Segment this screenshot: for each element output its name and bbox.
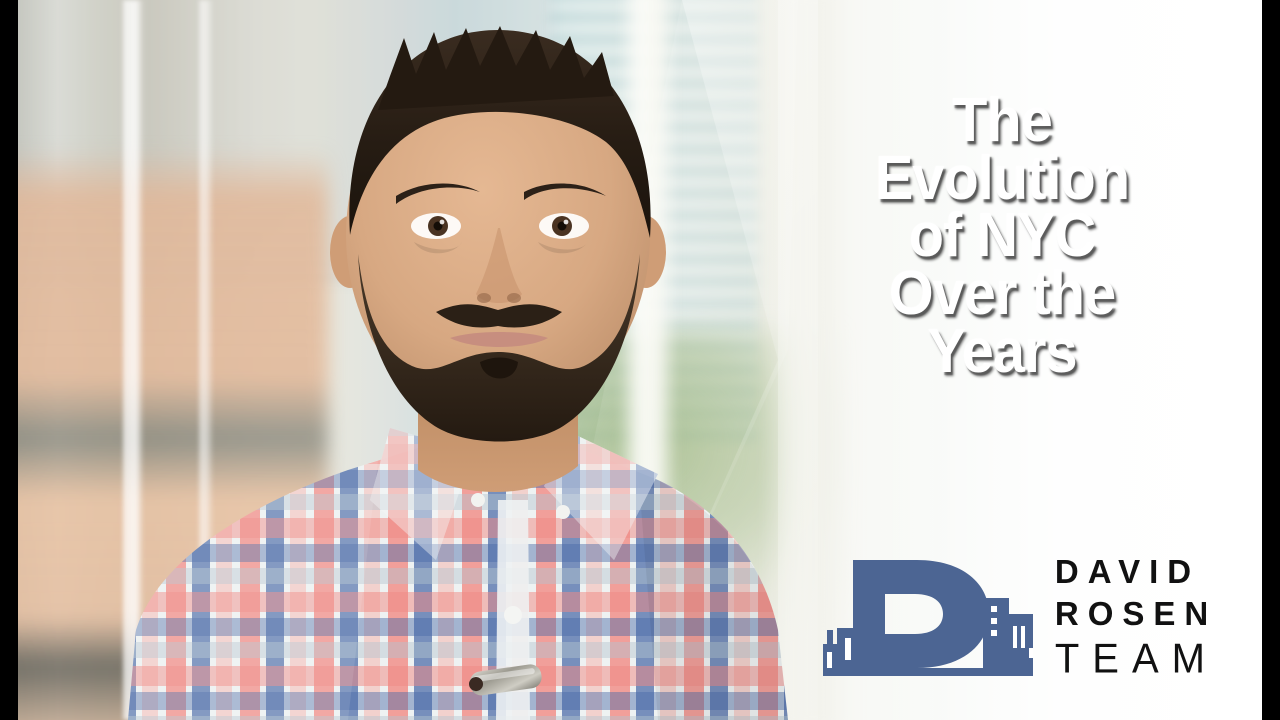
david-rosen-d-building-icon [823,552,1033,682]
title-line-1: The [816,92,1188,150]
title-line-3: of NYC [816,207,1188,265]
brand-logo-lockup: DAVID ROSEN TEAM [823,552,1218,682]
letterbox-bar-left [0,0,18,720]
brand-word-rosen: ROSEN [1055,597,1217,630]
thumbnail-stage: The Evolution of NYC Over the Years [0,0,1280,720]
video-frame: The Evolution of NYC Over the Years [18,0,1262,720]
brand-word-team: TEAM [1055,638,1218,680]
letterbox-bar-right [1262,0,1280,720]
title-line-2: Evolution [816,150,1188,208]
title-line-4: Over the [816,265,1188,323]
brand-wordmark: DAVID ROSEN TEAM [1055,555,1218,679]
title-line-5: Years [816,323,1188,381]
thumbnail-title: The Evolution of NYC Over the Years [802,92,1202,380]
brand-word-david: DAVID [1055,555,1200,588]
